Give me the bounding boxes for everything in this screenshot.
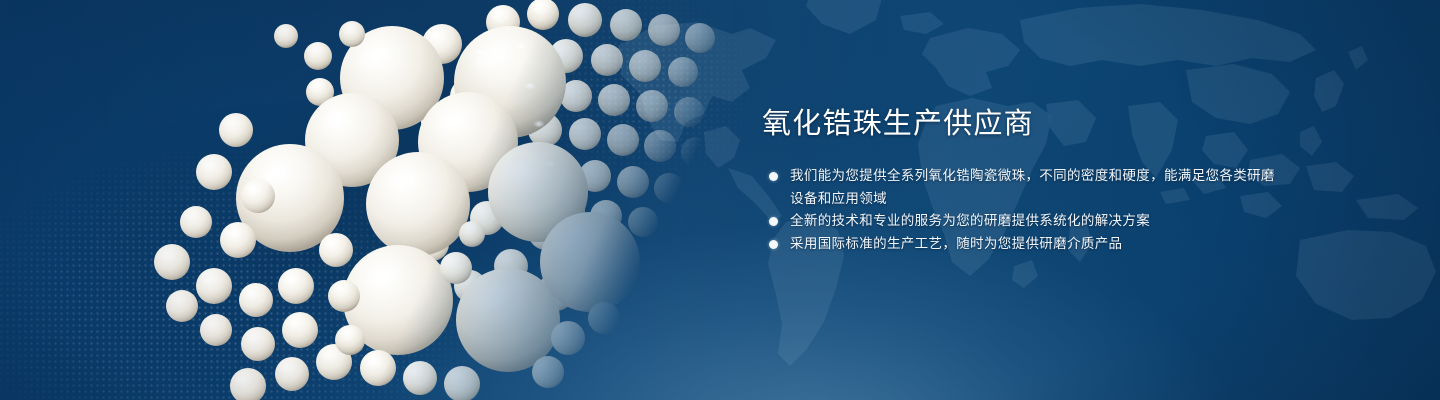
banner-copy: 氧化锆珠生产供应商 我们能为您提供全系列氧化锆陶瓷微珠，不同的密度和硬度，能满足… [762,104,1282,255]
list-item: 采用国际标准的生产工艺，随时为您提供研磨介质产品 [762,233,1282,256]
list-item-label: 采用国际标准的生产工艺，随时为您提供研磨介质产品 [790,233,1282,256]
bullet-dot-icon [769,240,778,249]
list-item: 我们能为您提供全系列氧化锆陶瓷微珠，不同的密度和硬度，能满足您各类研磨设备和应用… [762,165,1282,210]
bullet-dot-icon [769,217,778,226]
hero-banner: 氧化锆珠生产供应商 我们能为您提供全系列氧化锆陶瓷微珠，不同的密度和硬度，能满足… [0,0,1440,400]
bullet-dot-icon [769,172,778,181]
page-title: 氧化锆珠生产供应商 [762,104,1282,144]
list-item-label: 全新的技术和专业的服务为您的研磨提供系统化的解决方案 [790,210,1282,233]
list-item-label: 我们能为您提供全系列氧化锆陶瓷微珠，不同的密度和硬度，能满足您各类研磨设备和应用… [790,165,1282,210]
list-item: 全新的技术和专业的服务为您的研磨提供系统化的解决方案 [762,210,1282,233]
feature-list: 我们能为您提供全系列氧化锆陶瓷微珠，不同的密度和硬度，能满足您各类研磨设备和应用… [762,165,1282,255]
